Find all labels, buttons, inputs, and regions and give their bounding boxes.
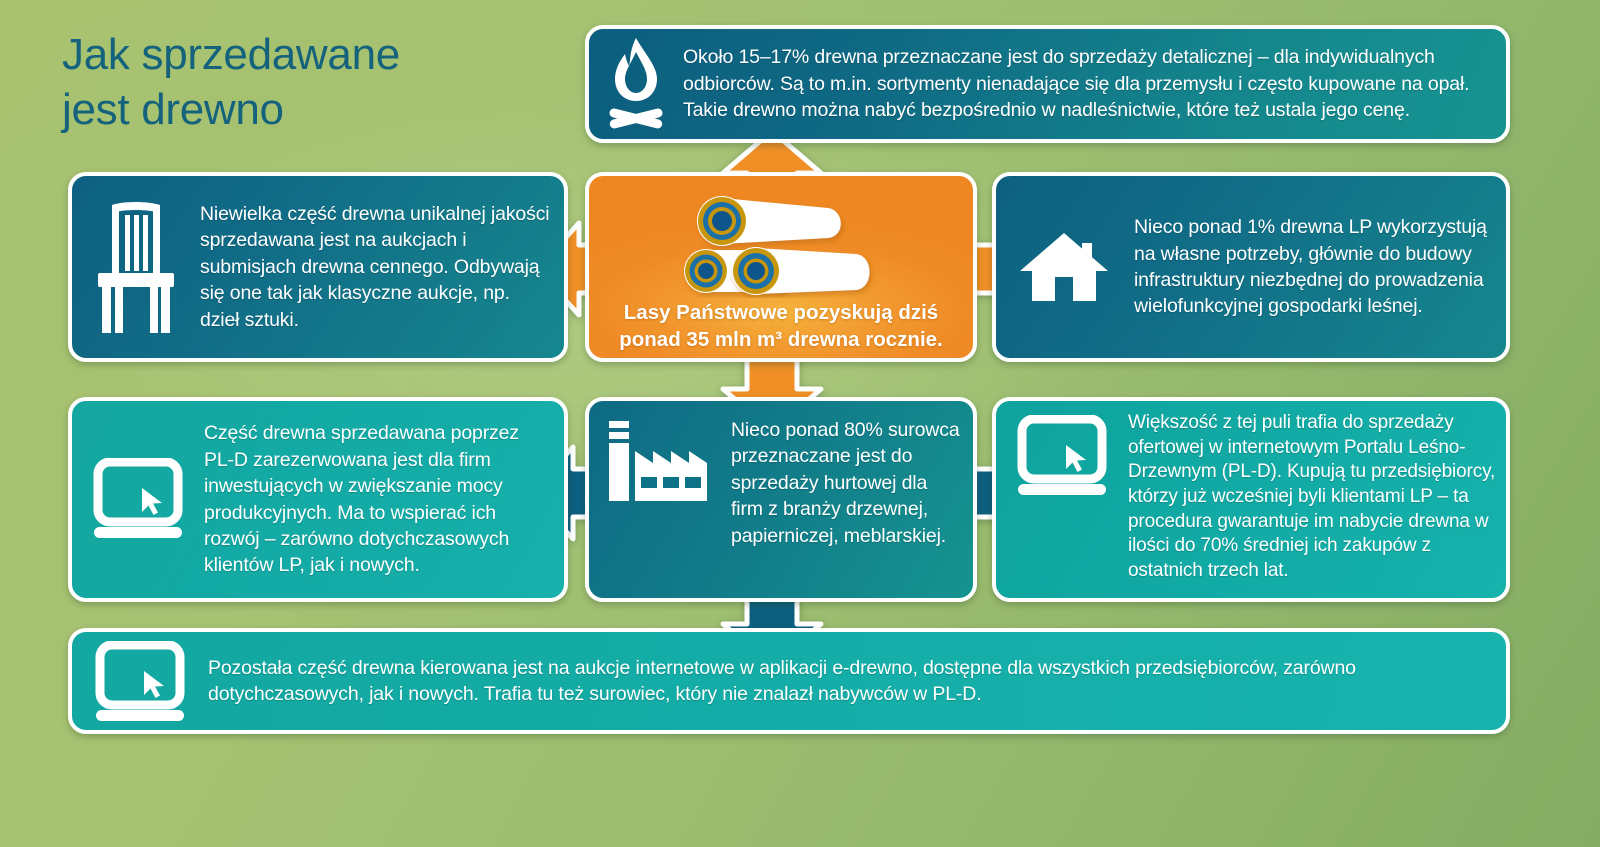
central-production-box: Lasy Państwowe pozyskują dziś ponad 35 m… xyxy=(585,172,977,362)
central-production-text: Lasy Państwowe pozyskują dziś ponad 35 m… xyxy=(619,300,943,353)
pld-reserved-box: Część drewna sprzedawana poprzez PL-D za… xyxy=(68,397,568,602)
infographic-stage: Jak sprzedawane jest drewno xyxy=(0,0,1600,847)
page-title: Jak sprzedawane jest drewno xyxy=(62,28,582,137)
chair-icon xyxy=(94,199,178,335)
wholesale-text: Nieco ponad 80% surowca przeznaczane jes… xyxy=(731,417,963,549)
pld-reserved-text: Część drewna sprzedawana poprzez PL-D za… xyxy=(204,420,550,579)
campfire-icon xyxy=(605,36,667,132)
central-text-line-2: ponad 35 mln m³ drewna rocznie. xyxy=(619,327,943,354)
central-text-line-1: Lasy Państwowe pozyskują dziś xyxy=(619,300,943,327)
laptop-icon xyxy=(92,458,184,542)
pld-portal-box: Większość z tej puli trafia do sprzedaży… xyxy=(992,397,1510,602)
retail-sales-box: Około 15–17% drewna przeznaczane jest do… xyxy=(585,25,1510,143)
auction-sales-box: Niewielka część drewna unikalnej jakości… xyxy=(68,172,568,362)
title-line-1: Jak sprzedawane xyxy=(62,30,400,79)
own-use-text: Nieco ponad 1% drewna LP wykorzystują na… xyxy=(1134,214,1492,320)
auction-sales-text: Niewielka część drewna unikalnej jakości… xyxy=(200,201,550,333)
house-icon xyxy=(1018,229,1110,305)
title-line-2: jest drewno xyxy=(62,83,582,138)
logs-icon xyxy=(678,192,884,298)
e-drewno-box: Pozostała część drewna kierowana jest na… xyxy=(68,628,1510,734)
e-drewno-text: Pozostała część drewna kierowana jest na… xyxy=(208,655,1488,708)
laptop-icon xyxy=(1016,415,1108,499)
own-use-box: Nieco ponad 1% drewna LP wykorzystują na… xyxy=(992,172,1510,362)
retail-sales-text: Około 15–17% drewna przeznaczane jest do… xyxy=(683,44,1488,123)
factory-icon xyxy=(605,419,717,505)
laptop-icon xyxy=(94,641,186,725)
pld-portal-text: Większość z tej puli trafia do sprzedaży… xyxy=(1128,411,1496,584)
wholesale-box: Nieco ponad 80% surowca przeznaczane jes… xyxy=(585,397,977,602)
